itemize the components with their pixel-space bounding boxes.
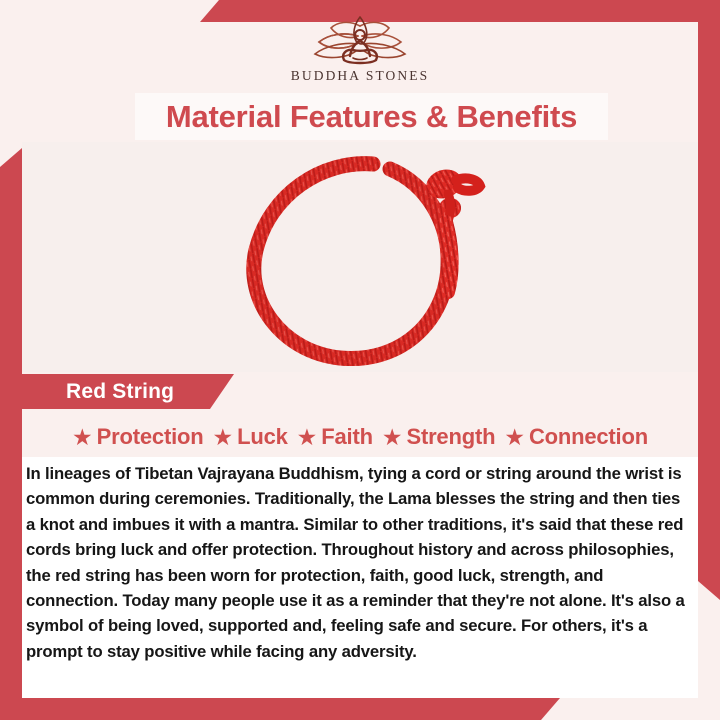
product-name-label: Red String xyxy=(22,380,174,404)
lotus-meditation-figure-icon xyxy=(301,14,419,66)
feature-label: Protection xyxy=(97,424,204,450)
brand-name: BUDDHA STONES xyxy=(291,68,429,84)
feature-item-protection: ★ Protection xyxy=(72,424,203,450)
feature-item-luck: ★ Luck xyxy=(212,424,287,450)
page-title: Material Features & Benefits xyxy=(166,99,577,135)
brand-logo: BUDDHA STONES xyxy=(0,14,720,92)
frame-band-left xyxy=(0,148,22,720)
feature-item-faith: ★ Faith xyxy=(297,424,373,450)
star-icon: ★ xyxy=(382,426,403,449)
frame-band-bottom xyxy=(0,698,560,720)
hero-image-area xyxy=(22,142,698,372)
star-icon: ★ xyxy=(72,426,93,449)
feature-item-connection: ★ Connection xyxy=(504,424,648,450)
title-banner: Material Features & Benefits xyxy=(135,93,608,140)
feature-label: Connection xyxy=(529,424,648,450)
infographic-page: BUDDHA STONES Material Features & Benefi… xyxy=(0,0,720,720)
star-icon: ★ xyxy=(504,426,525,449)
feature-label: Faith xyxy=(321,424,373,450)
star-icon: ★ xyxy=(212,426,233,449)
star-icon: ★ xyxy=(297,426,318,449)
description-block: In lineages of Tibetan Vajrayana Buddhis… xyxy=(22,457,698,698)
feature-label: Luck xyxy=(237,424,288,450)
feature-item-strength: ★ Strength xyxy=(382,424,495,450)
description-text: In lineages of Tibetan Vajrayana Buddhis… xyxy=(26,461,688,664)
product-name-ribbon: Red String xyxy=(22,374,234,409)
feature-label: Strength xyxy=(406,424,495,450)
feature-list: ★ Protection ★ Luck ★ Faith ★ Strength ★… xyxy=(22,418,698,456)
